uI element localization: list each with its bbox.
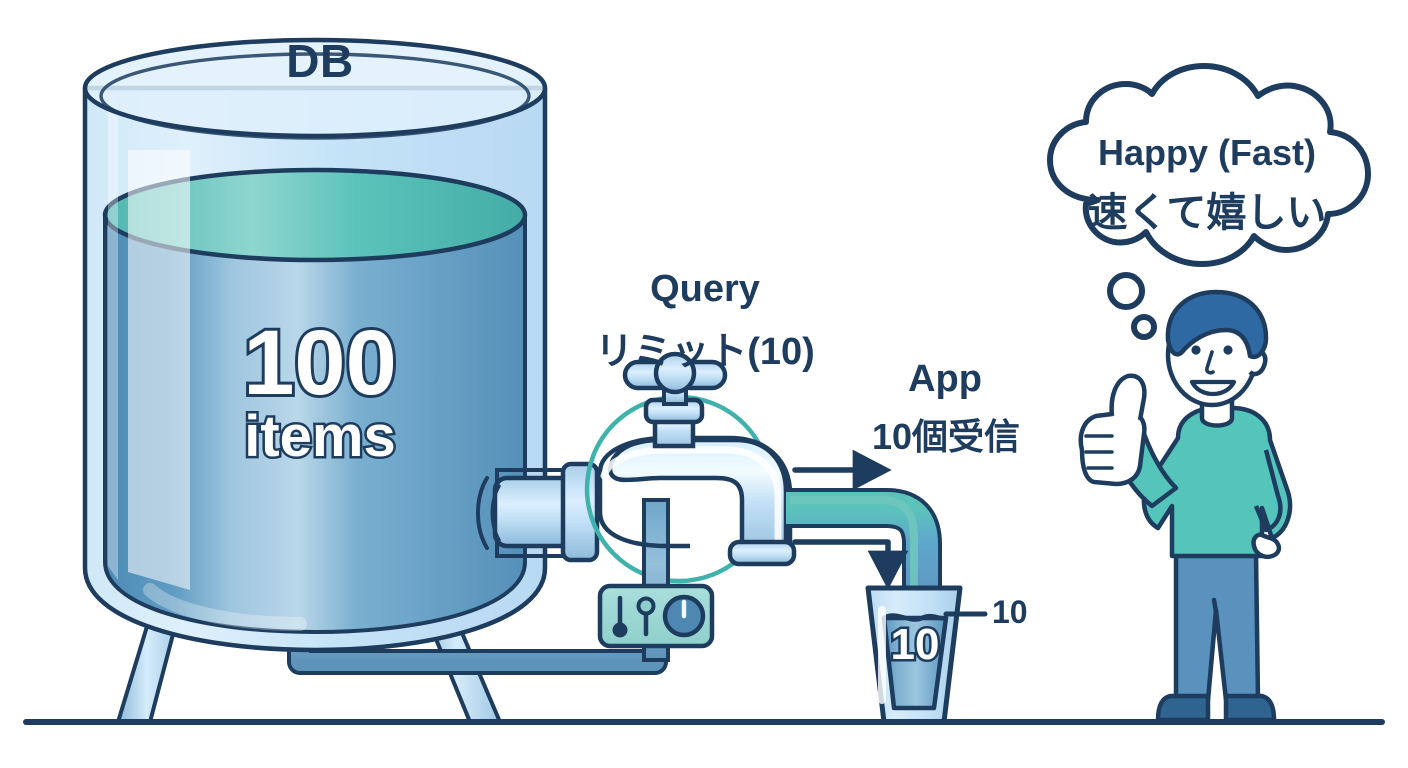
thought-bubble-large bbox=[1110, 275, 1142, 307]
faucet-handle[interactable] bbox=[625, 354, 725, 392]
faucet-spout-collar bbox=[730, 542, 794, 564]
thought-cloud-shape bbox=[1050, 66, 1368, 264]
person-eye-left bbox=[1191, 345, 1200, 354]
person-right-hand bbox=[1254, 535, 1279, 557]
person-pants bbox=[1176, 554, 1258, 700]
tank-outlet-nozzle bbox=[478, 464, 597, 560]
db-tank bbox=[85, 40, 655, 722]
thumbs-up-icon bbox=[1081, 376, 1145, 484]
receiving-glass bbox=[868, 588, 985, 722]
thought-bubble-small bbox=[1134, 317, 1154, 337]
person-pants-crease bbox=[1214, 600, 1216, 612]
person-shoe-right bbox=[1226, 696, 1274, 720]
slider-right-knob-icon[interactable] bbox=[639, 599, 654, 614]
illustration-canvas: DB 100 items Query リミット(10) App 10個受信 10… bbox=[0, 0, 1408, 768]
person-eye-right bbox=[1223, 345, 1232, 354]
thumb-up-finger bbox=[1112, 376, 1145, 420]
slider-left-knob-icon[interactable] bbox=[613, 623, 628, 638]
tank-glass-highlight bbox=[128, 150, 190, 590]
glass-highlight bbox=[878, 606, 886, 704]
handle-hub[interactable] bbox=[656, 354, 694, 392]
flow-arrow-bottom bbox=[795, 542, 888, 582]
thumb-hand-palm bbox=[1081, 412, 1145, 484]
happy-user bbox=[1081, 292, 1290, 720]
query-faucet[interactable] bbox=[587, 354, 794, 660]
valve-control-panel[interactable] bbox=[600, 586, 712, 646]
scene-svg bbox=[0, 0, 1408, 768]
glass-water bbox=[884, 618, 946, 708]
tank-glass-highlight-edge bbox=[108, 100, 118, 580]
person-shoe-left bbox=[1158, 696, 1208, 720]
